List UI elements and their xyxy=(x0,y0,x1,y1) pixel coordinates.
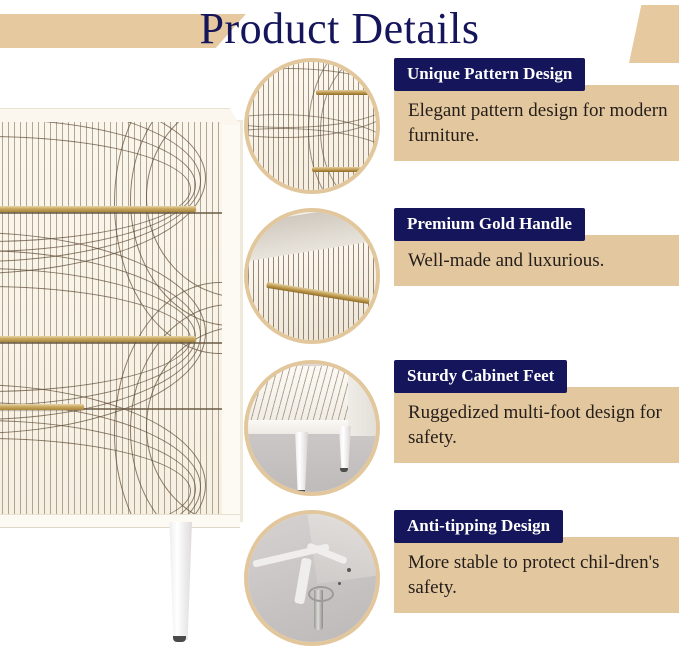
dresser-base xyxy=(0,514,240,528)
dresser-leg-tip xyxy=(173,636,186,642)
feature-title: Premium Gold Handle xyxy=(394,208,585,241)
drawer-divider xyxy=(0,212,222,214)
feature-description: Ruggedized multi-foot design for safety. xyxy=(394,387,679,463)
product-details-infographic: Product Details xyxy=(0,0,679,671)
drawer-handle xyxy=(0,404,84,410)
header: Product Details xyxy=(0,0,679,62)
feature-text-block: Sturdy Cabinet Feet Ruggedized multi-foo… xyxy=(394,360,679,463)
page-title: Product Details xyxy=(0,0,679,58)
feature-description: Well-made and luxurious. xyxy=(394,235,679,286)
drawer-handle xyxy=(0,206,196,212)
feature-description: More stable to protect chil-dren's safet… xyxy=(394,537,679,613)
product-photo xyxy=(0,108,248,648)
feature-text-block: Premium Gold Handle Well-made and luxuri… xyxy=(394,208,679,286)
cabinet-feet-photo xyxy=(244,360,380,496)
dresser-leg xyxy=(168,522,192,640)
feature-text-block: Anti-tipping Design More stable to prote… xyxy=(394,510,679,613)
feature-text-block: Unique Pattern Design Elegant pattern de… xyxy=(394,58,679,161)
feature-title: Anti-tipping Design xyxy=(394,510,563,543)
drawer-handle xyxy=(0,336,196,342)
feature-title: Unique Pattern Design xyxy=(394,58,585,91)
feature-description: Elegant pattern design for modern furnit… xyxy=(394,85,679,161)
gold-handle-photo xyxy=(244,208,380,344)
pattern-detail-photo xyxy=(244,58,380,194)
drawer-divider xyxy=(0,342,222,344)
anti-tip-photo xyxy=(244,510,380,646)
dresser-front-pattern xyxy=(0,122,222,518)
feature-title: Sturdy Cabinet Feet xyxy=(394,360,567,393)
